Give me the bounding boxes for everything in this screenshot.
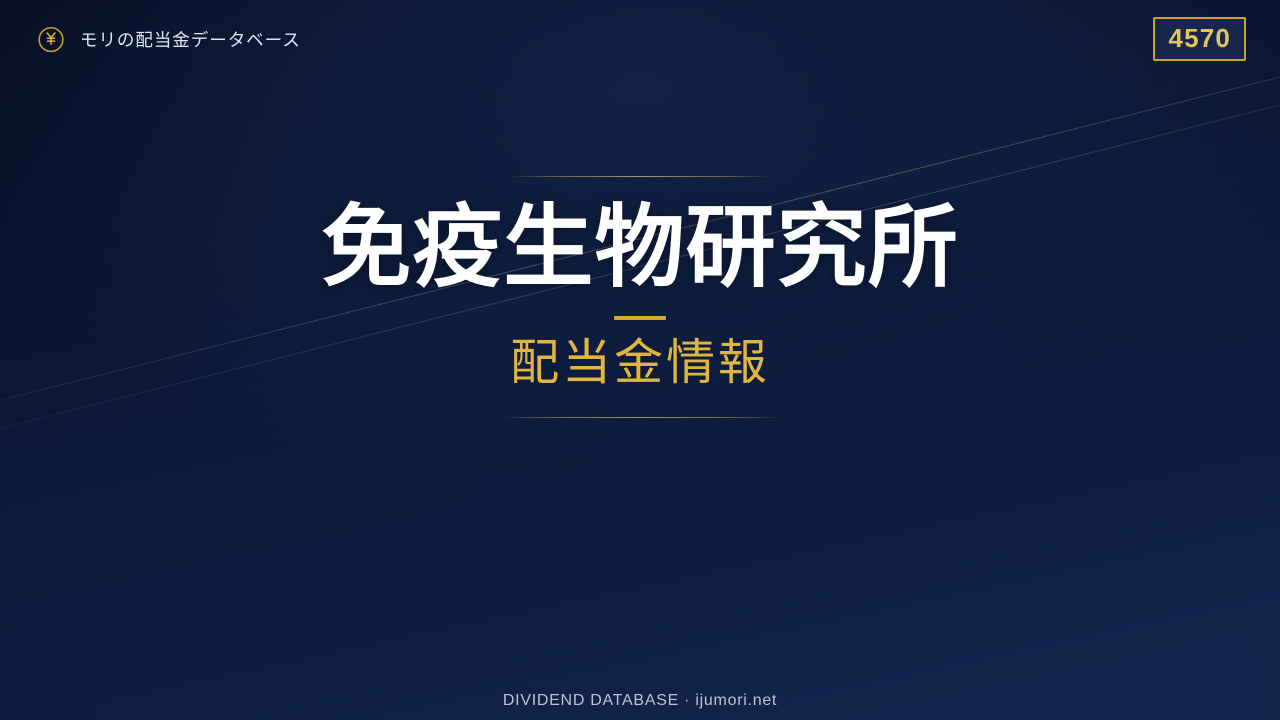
page-footer: DIVIDEND DATABASE · ijumori.net: [0, 692, 1280, 710]
page-subtitle: 配当金情報: [510, 336, 770, 391]
footer-attribution: DIVIDEND DATABASE · ijumori.net: [503, 692, 777, 710]
hero-bottom-divider: [501, 417, 779, 418]
ticker-code-badge[interactable]: 4570: [1153, 17, 1246, 61]
hero-top-divider: [509, 176, 771, 177]
hero-block: 免疫生物研究所 配当金情報: [0, 176, 1280, 418]
page-header: モリの配当金データベース 4570: [0, 0, 1280, 78]
yen-circle-icon: [36, 24, 66, 54]
hero-gold-accent-bar: [614, 316, 666, 320]
company-name-title: 免疫生物研究所: [321, 201, 959, 296]
brand-name-label: モリの配当金データベース: [80, 27, 301, 52]
title-slide: モリの配当金データベース 4570 免疫生物研究所 配当金情報 DIVIDEND…: [0, 0, 1280, 720]
brand-lockup[interactable]: モリの配当金データベース: [36, 24, 301, 54]
